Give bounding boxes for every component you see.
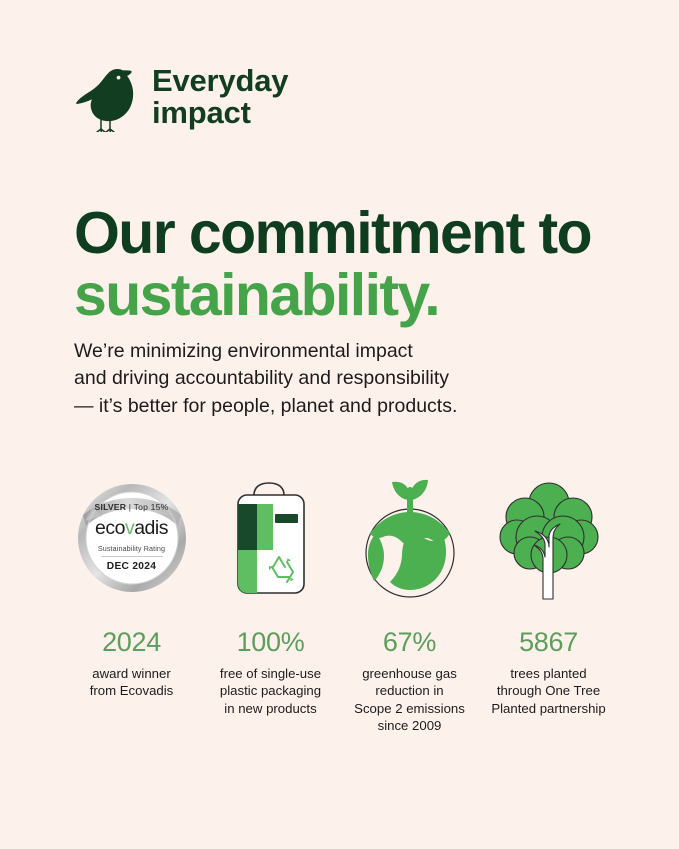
headline-line-2-prefix: to xyxy=(538,200,591,266)
stat-caption-line: free of single-use xyxy=(220,665,321,683)
lead-line-1: We’re minimizing environmental impact xyxy=(74,338,544,366)
lead-line-2: and driving accountability and responsib… xyxy=(74,365,544,393)
headline-accent-word: sustainability. xyxy=(74,262,439,328)
stat-caption-line: plastic packaging xyxy=(220,682,321,700)
stat-caption-line: reduction in xyxy=(354,682,465,700)
stat-caption-line: greenhouse gas xyxy=(354,665,465,683)
bird-icon xyxy=(76,62,138,132)
brand-lockup: Everyday impact xyxy=(76,62,288,132)
headline-line-1: Our commitment xyxy=(74,200,524,266)
stat-caption: greenhouse gas reduction in Scope 2 emis… xyxy=(354,665,465,735)
stat-caption-line: through One Tree xyxy=(491,682,605,700)
stat-icon-wrapper xyxy=(228,468,314,608)
stat-caption: award winner from Ecovadis xyxy=(90,665,174,700)
stat-item: 100% free of single-use plastic packagin… xyxy=(201,468,340,717)
stat-caption-line: since 2009 xyxy=(354,717,465,735)
brand-name-line-1: Everyday xyxy=(152,65,288,97)
stats-row: SILVER | Top 15% ecovadis Sustainability… xyxy=(62,468,618,735)
page-title: Our commitment to sustainability. xyxy=(74,202,634,327)
stat-value: 2024 xyxy=(102,628,161,658)
stat-item: SILVER | Top 15% ecovadis Sustainability… xyxy=(62,468,201,700)
stat-item: 67% greenhouse gas reduction in Scope 2 … xyxy=(340,468,479,735)
brand-wordmark: Everyday impact xyxy=(152,65,288,129)
stat-caption-line: Scope 2 emissions xyxy=(354,700,465,718)
lead-paragraph: We’re minimizing environmental impact an… xyxy=(74,338,544,421)
recyclable-packaging-icon xyxy=(228,479,314,597)
stat-icon-wrapper: SILVER | Top 15% ecovadis Sustainability… xyxy=(75,468,189,608)
stat-caption-line: in new products xyxy=(220,700,321,718)
stat-caption-line: trees planted xyxy=(491,665,605,683)
stat-caption: free of single-use plastic packaging in … xyxy=(220,665,321,718)
stat-item: 5867 trees planted through One Tree Plan… xyxy=(479,468,618,717)
stat-caption: trees planted through One Tree Planted p… xyxy=(491,665,605,718)
stat-caption-line: from Ecovadis xyxy=(90,682,174,700)
stat-value: 67% xyxy=(383,628,436,658)
stat-icon-wrapper xyxy=(497,468,601,608)
stat-caption-line: Planted partnership xyxy=(491,700,605,718)
globe-sprout-icon xyxy=(354,470,466,606)
sustainability-infographic: Everyday impact Our commitment to sustai… xyxy=(0,0,679,849)
stat-value: 100% xyxy=(237,628,305,658)
brand-name-line-2: impact xyxy=(152,97,288,129)
lead-line-3: — it’s better for people, planet and pro… xyxy=(74,393,544,421)
tree-icon xyxy=(497,475,601,601)
stat-icon-wrapper xyxy=(354,468,466,608)
ecovadis-medal-icon: SILVER | Top 15% ecovadis Sustainability… xyxy=(75,481,189,595)
stat-value: 5867 xyxy=(519,628,578,658)
stat-caption-line: award winner xyxy=(90,665,174,683)
